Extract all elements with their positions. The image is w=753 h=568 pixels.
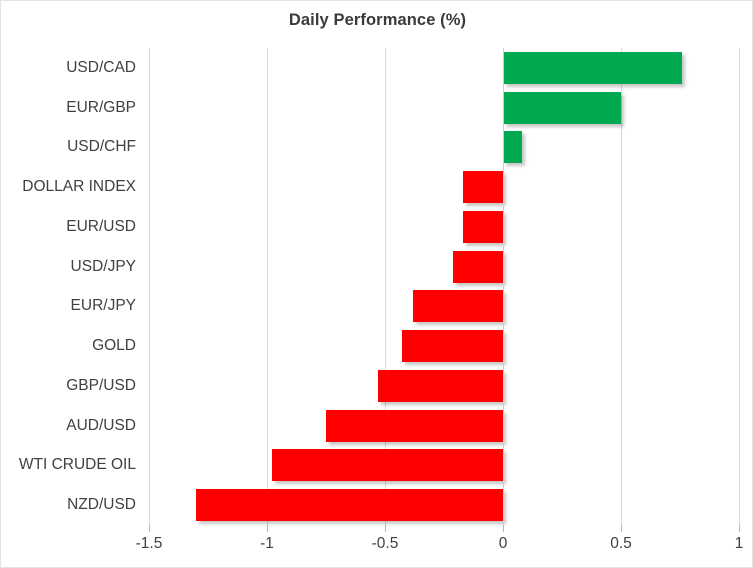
bar-row: USD/JPY — [149, 247, 739, 287]
bar[interactable] — [196, 489, 503, 521]
category-label: AUD/USD — [66, 417, 136, 435]
x-axis: -1.5-1-0.500.51 — [149, 525, 739, 565]
chart-title: Daily Performance (%) — [1, 11, 753, 30]
bar[interactable] — [453, 251, 503, 283]
x-tick — [503, 525, 504, 532]
category-label: USD/CHF — [67, 138, 136, 156]
bar-row: USD/CAD — [149, 48, 739, 88]
bar[interactable] — [402, 330, 503, 362]
category-label: WTI CRUDE OIL — [19, 456, 136, 474]
gridline — [739, 48, 740, 525]
x-tick-label: 0.5 — [610, 535, 632, 553]
bar-row: USD/CHF — [149, 128, 739, 168]
category-label: EUR/GBP — [66, 99, 136, 117]
x-tick — [267, 525, 268, 532]
x-tick-label: -1 — [260, 535, 274, 553]
x-tick-label: -0.5 — [372, 535, 399, 553]
category-label: GOLD — [92, 337, 136, 355]
bar[interactable] — [503, 131, 522, 163]
bar[interactable] — [272, 449, 503, 481]
category-label: DOLLAR INDEX — [22, 178, 136, 196]
bar[interactable] — [463, 171, 503, 203]
bar-row: GOLD — [149, 326, 739, 366]
category-label: EUR/USD — [66, 218, 136, 236]
bar-row: AUD/USD — [149, 406, 739, 446]
bar[interactable] — [413, 290, 503, 322]
category-label: USD/JPY — [71, 258, 136, 276]
bar-row: EUR/JPY — [149, 287, 739, 327]
x-tick — [739, 525, 740, 532]
x-tick-label: 1 — [735, 535, 744, 553]
bar[interactable] — [503, 52, 682, 84]
bar-row: EUR/GBP — [149, 88, 739, 128]
x-tick-label: 0 — [499, 535, 508, 553]
bar-row: EUR/USD — [149, 207, 739, 247]
x-tick — [621, 525, 622, 532]
category-label: GBP/USD — [66, 377, 136, 395]
bar-row: DOLLAR INDEX — [149, 167, 739, 207]
category-label: EUR/JPY — [71, 297, 136, 315]
x-tick — [385, 525, 386, 532]
bar-row: NZD/USD — [149, 485, 739, 525]
bar-row: WTI CRUDE OIL — [149, 446, 739, 486]
bar[interactable] — [503, 92, 621, 124]
x-tick — [149, 525, 150, 532]
zero-axis-line — [503, 48, 504, 525]
bar[interactable] — [378, 370, 503, 402]
bar[interactable] — [326, 410, 503, 442]
plot-area: USD/CADEUR/GBPUSD/CHFDOLLAR INDEXEUR/USD… — [149, 48, 739, 525]
bar-row: GBP/USD — [149, 366, 739, 406]
bar[interactable] — [463, 211, 503, 243]
x-tick-label: -1.5 — [136, 535, 163, 553]
daily-performance-bar-chart: Daily Performance (%) USD/CADEUR/GBPUSD/… — [0, 0, 753, 568]
category-label: USD/CAD — [66, 59, 136, 77]
category-label: NZD/USD — [67, 496, 136, 514]
